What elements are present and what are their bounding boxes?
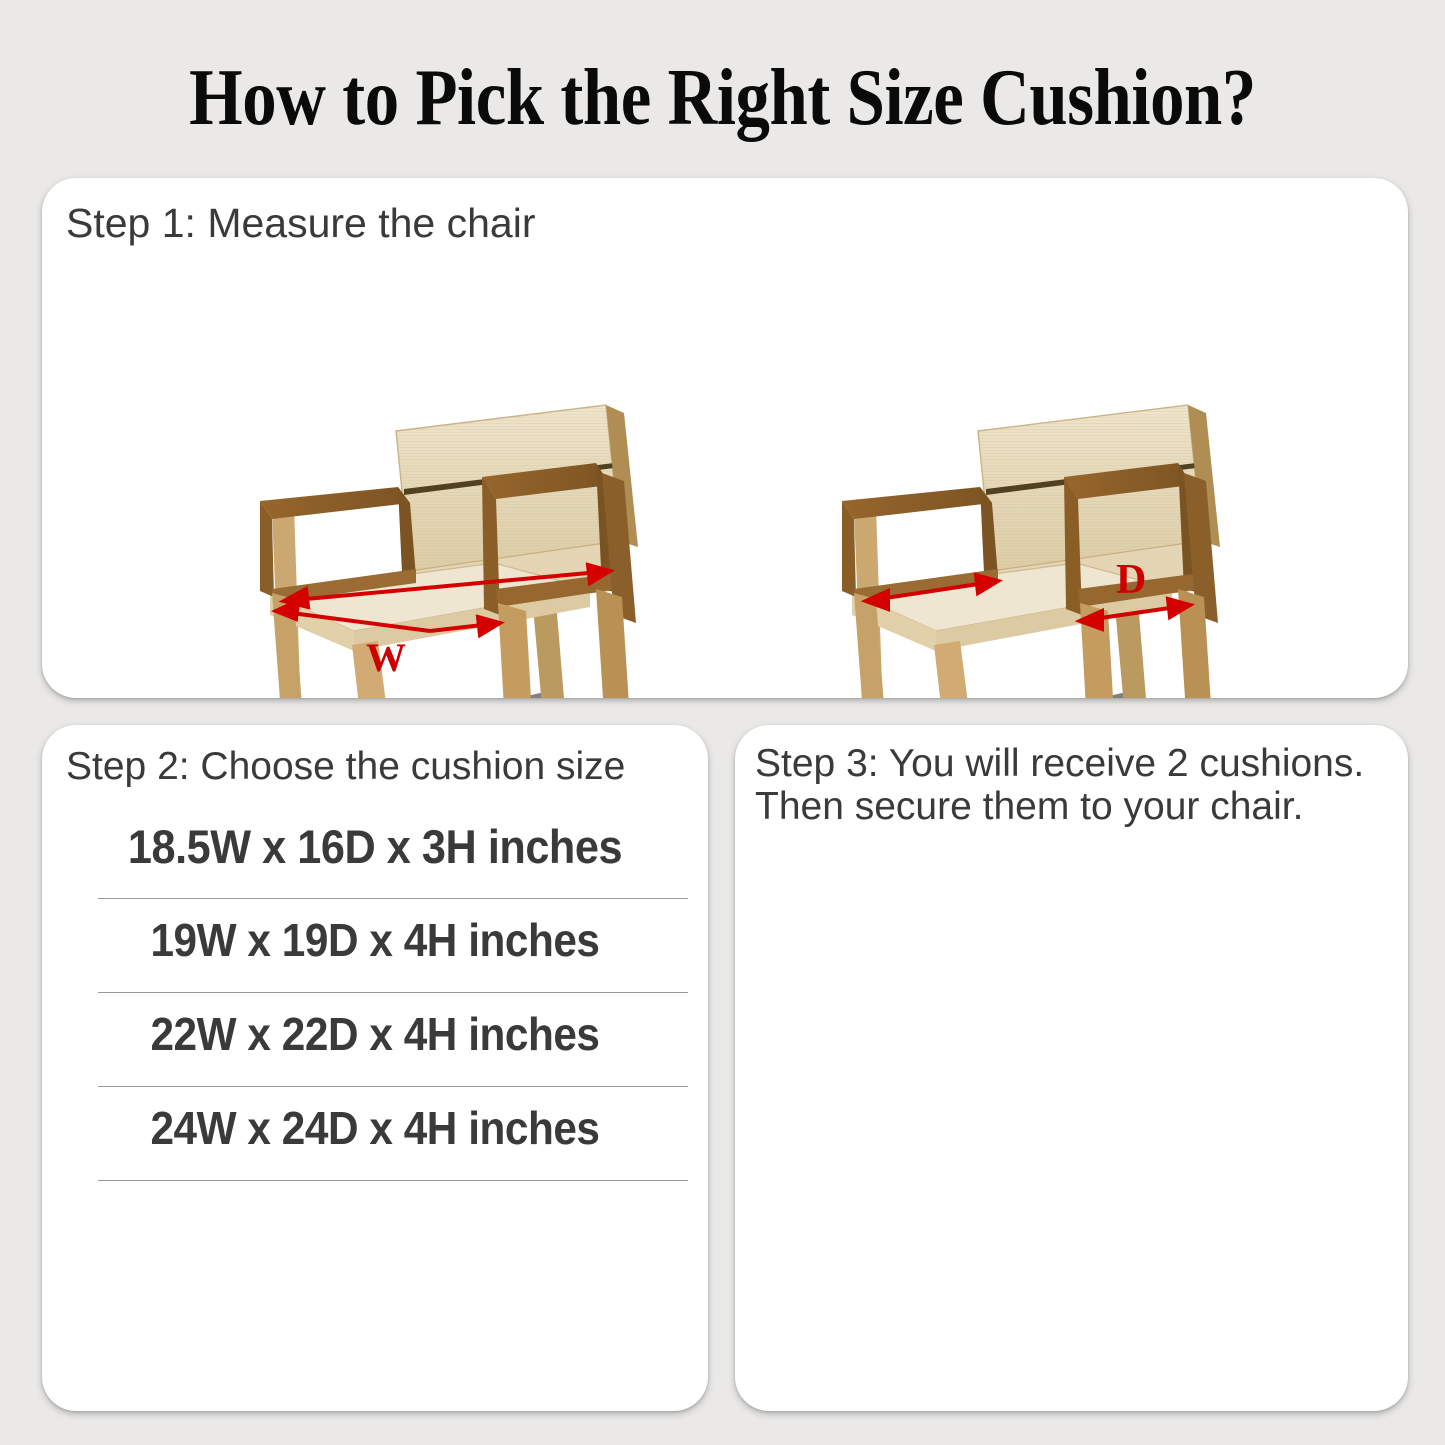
step-1-label: Step 1: Measure the chair — [66, 200, 535, 247]
step-1-panel: Step 1: Measure the chair — [42, 178, 1408, 698]
size-option-label: 22W x 22D x 4H inches — [69, 1007, 682, 1061]
step-2-label: Step 2: Choose the cushion size — [66, 745, 625, 789]
size-option-label: 19W x 19D x 4H inches — [69, 913, 682, 967]
size-divider — [98, 898, 688, 899]
depth-marker-label: D — [1116, 557, 1146, 603]
size-option-row[interactable]: 18.5W x 16D x 3H inches — [42, 813, 708, 907]
size-divider — [98, 1180, 688, 1181]
size-option-row[interactable]: 24W x 24D x 4H inches — [42, 1095, 708, 1189]
chair-width-diagram: W — [250, 393, 680, 698]
size-option-row[interactable]: 22W x 22D x 4H inches — [42, 1001, 708, 1095]
step-2-panel: Step 2: Choose the cushion size 18.5W x … — [42, 725, 708, 1411]
cushion-size-list: 18.5W x 16D x 3H inches 19W x 19D x 4H i… — [42, 813, 708, 1189]
chair-width-svg: W — [250, 393, 680, 698]
page-title: How to Pick the Right Size Cushion? — [101, 58, 1344, 138]
step-3-panel: Step 3: You will receive 2 cushions. The… — [735, 725, 1408, 1411]
step-3-label: Step 3: You will receive 2 cushions. The… — [755, 743, 1405, 829]
chair-depth-svg: D — [832, 393, 1262, 698]
size-option-label: 18.5W x 16D x 3H inches — [69, 819, 682, 874]
size-divider — [98, 1086, 688, 1087]
size-divider — [98, 992, 688, 993]
size-option-row[interactable]: 19W x 19D x 4H inches — [42, 907, 708, 1001]
chair-depth-diagram: D — [832, 393, 1262, 698]
size-option-label: 24W x 24D x 4H inches — [69, 1101, 682, 1155]
width-marker-label: W — [366, 635, 406, 680]
